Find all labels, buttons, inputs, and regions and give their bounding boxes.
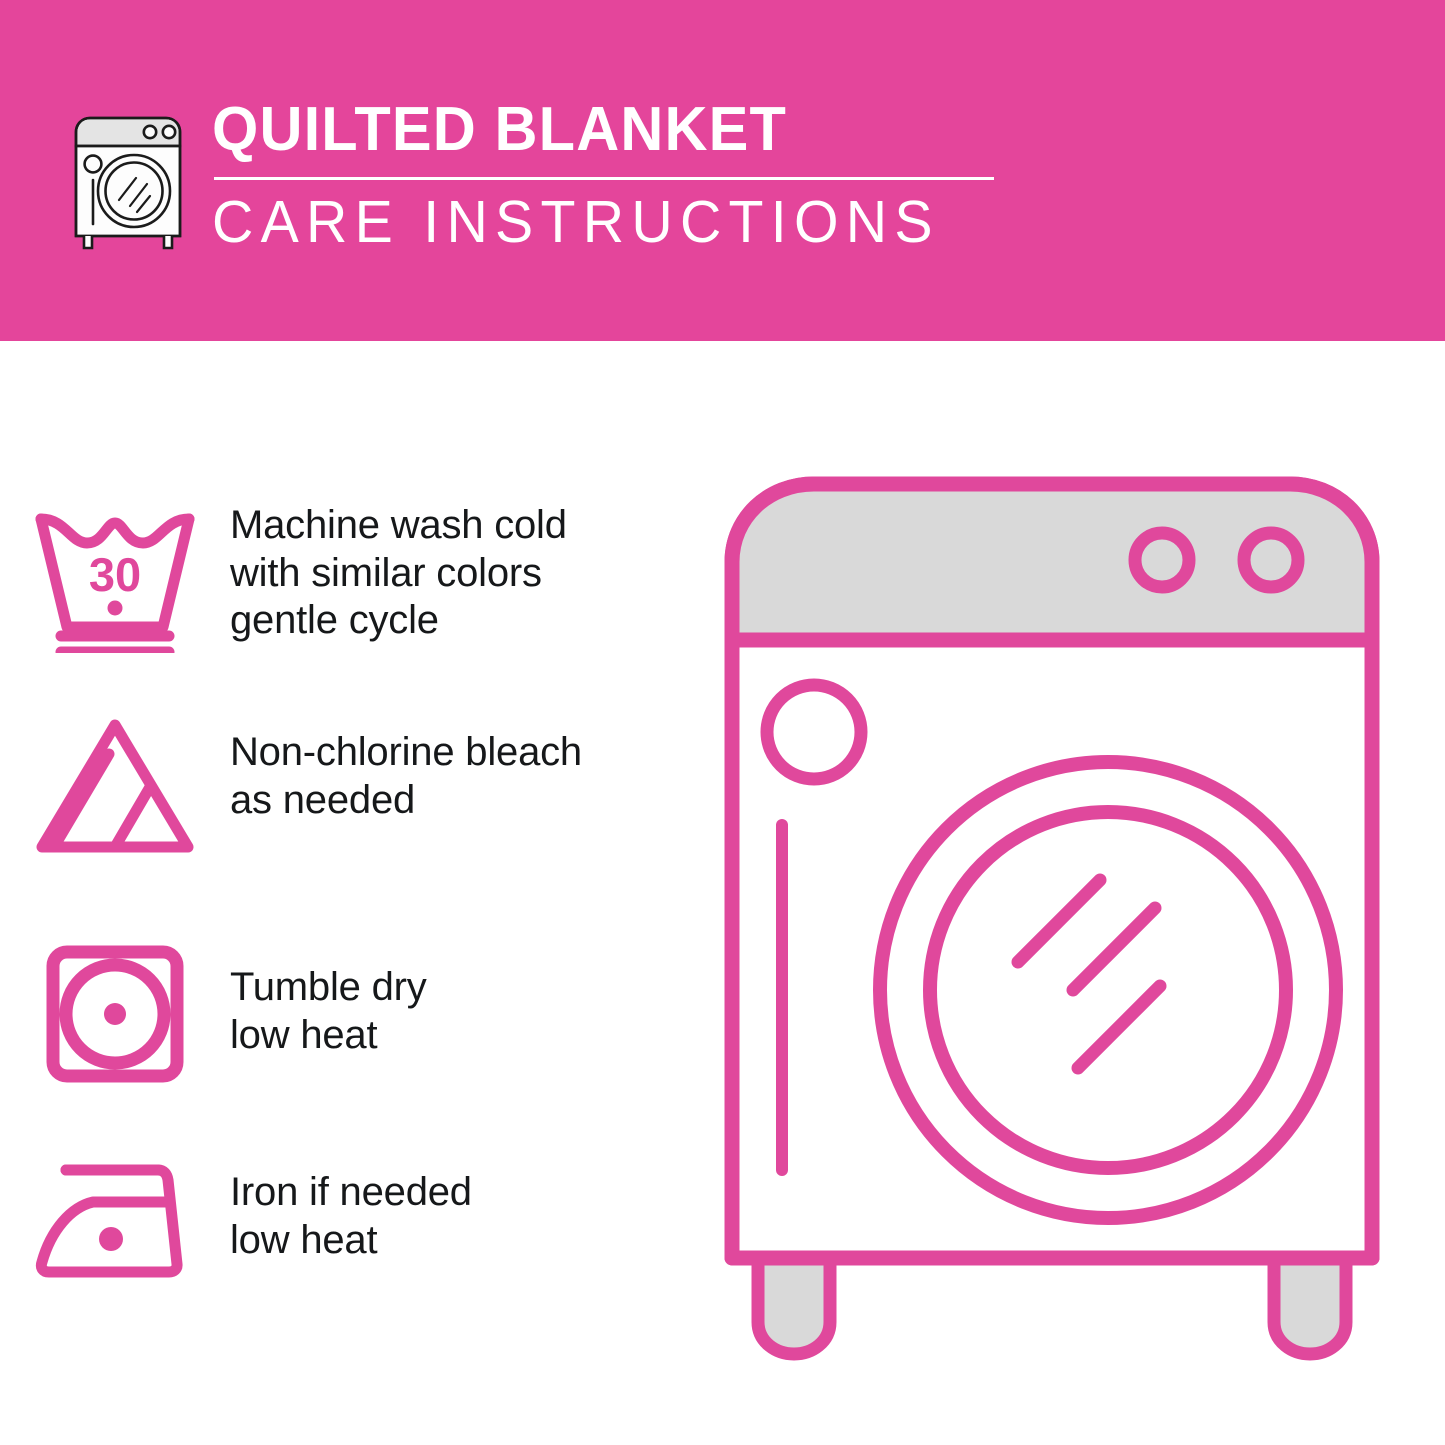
icon-cell-tumble-dry — [0, 936, 230, 1091]
tumble-dry-dot-icon — [104, 1003, 126, 1025]
non-chlorine-bleach-triangle-icon — [30, 713, 200, 859]
machine-wash-tub-icon: 30 — [27, 503, 203, 653]
care-row-iron: Iron if needed low heat — [0, 1147, 472, 1287]
machine-svg — [718, 470, 1418, 1370]
icon-cell-machine-wash: 30 — [0, 498, 230, 658]
bleach-stripe-2 — [115, 787, 150, 847]
care-row-tumble-dry: Tumble dry low heat — [0, 936, 427, 1091]
iron-dot-icon — [99, 1227, 123, 1251]
tumble-dry-low-icon — [44, 943, 186, 1085]
care-symbol-list: 30 Machine wash cold with similar colors… — [0, 341, 700, 1445]
washing-machine-icon — [62, 96, 194, 256]
icon-cell-iron — [0, 1147, 230, 1287]
icon-cell-bleach — [0, 711, 230, 861]
page-title: QUILTED BLANKET — [212, 98, 963, 161]
machine-leg-left — [758, 1252, 830, 1354]
machine-legs — [758, 1252, 1346, 1354]
header-title-group: QUILTED BLANKET CARE INSTRUCTIONS — [212, 96, 994, 254]
header-banner: QUILTED BLANKET CARE INSTRUCTIONS — [0, 0, 1445, 341]
page-subtitle: CARE INSTRUCTIONS — [212, 192, 971, 254]
care-text-bleach: Non-chlorine bleach as needed — [230, 711, 582, 824]
care-text-tumble-dry: Tumble dry low heat — [230, 936, 427, 1059]
header-content: QUILTED BLANKET CARE INSTRUCTIONS — [62, 96, 994, 256]
care-text-iron: Iron if needed low heat — [230, 1147, 472, 1264]
care-row-bleach: Non-chlorine bleach as needed — [0, 711, 582, 861]
care-text-machine-wash: Machine wash cold with similar colors ge… — [230, 498, 567, 645]
wash-dot-icon — [108, 601, 123, 616]
care-instructions-infographic: QUILTED BLANKET CARE INSTRUCTIONS 30 — [0, 0, 1445, 1445]
bleach-stripe-1 — [54, 754, 109, 847]
washing-machine-illustration — [718, 470, 1418, 1370]
care-row-machine-wash: 30 Machine wash cold with similar colors… — [0, 498, 567, 658]
machine-leg-right — [1274, 1252, 1346, 1354]
title-divider — [214, 177, 994, 180]
machine-control-panel — [732, 484, 1372, 640]
iron-low-heat-icon — [31, 1152, 199, 1282]
wash-temperature-label: 30 — [89, 548, 141, 601]
